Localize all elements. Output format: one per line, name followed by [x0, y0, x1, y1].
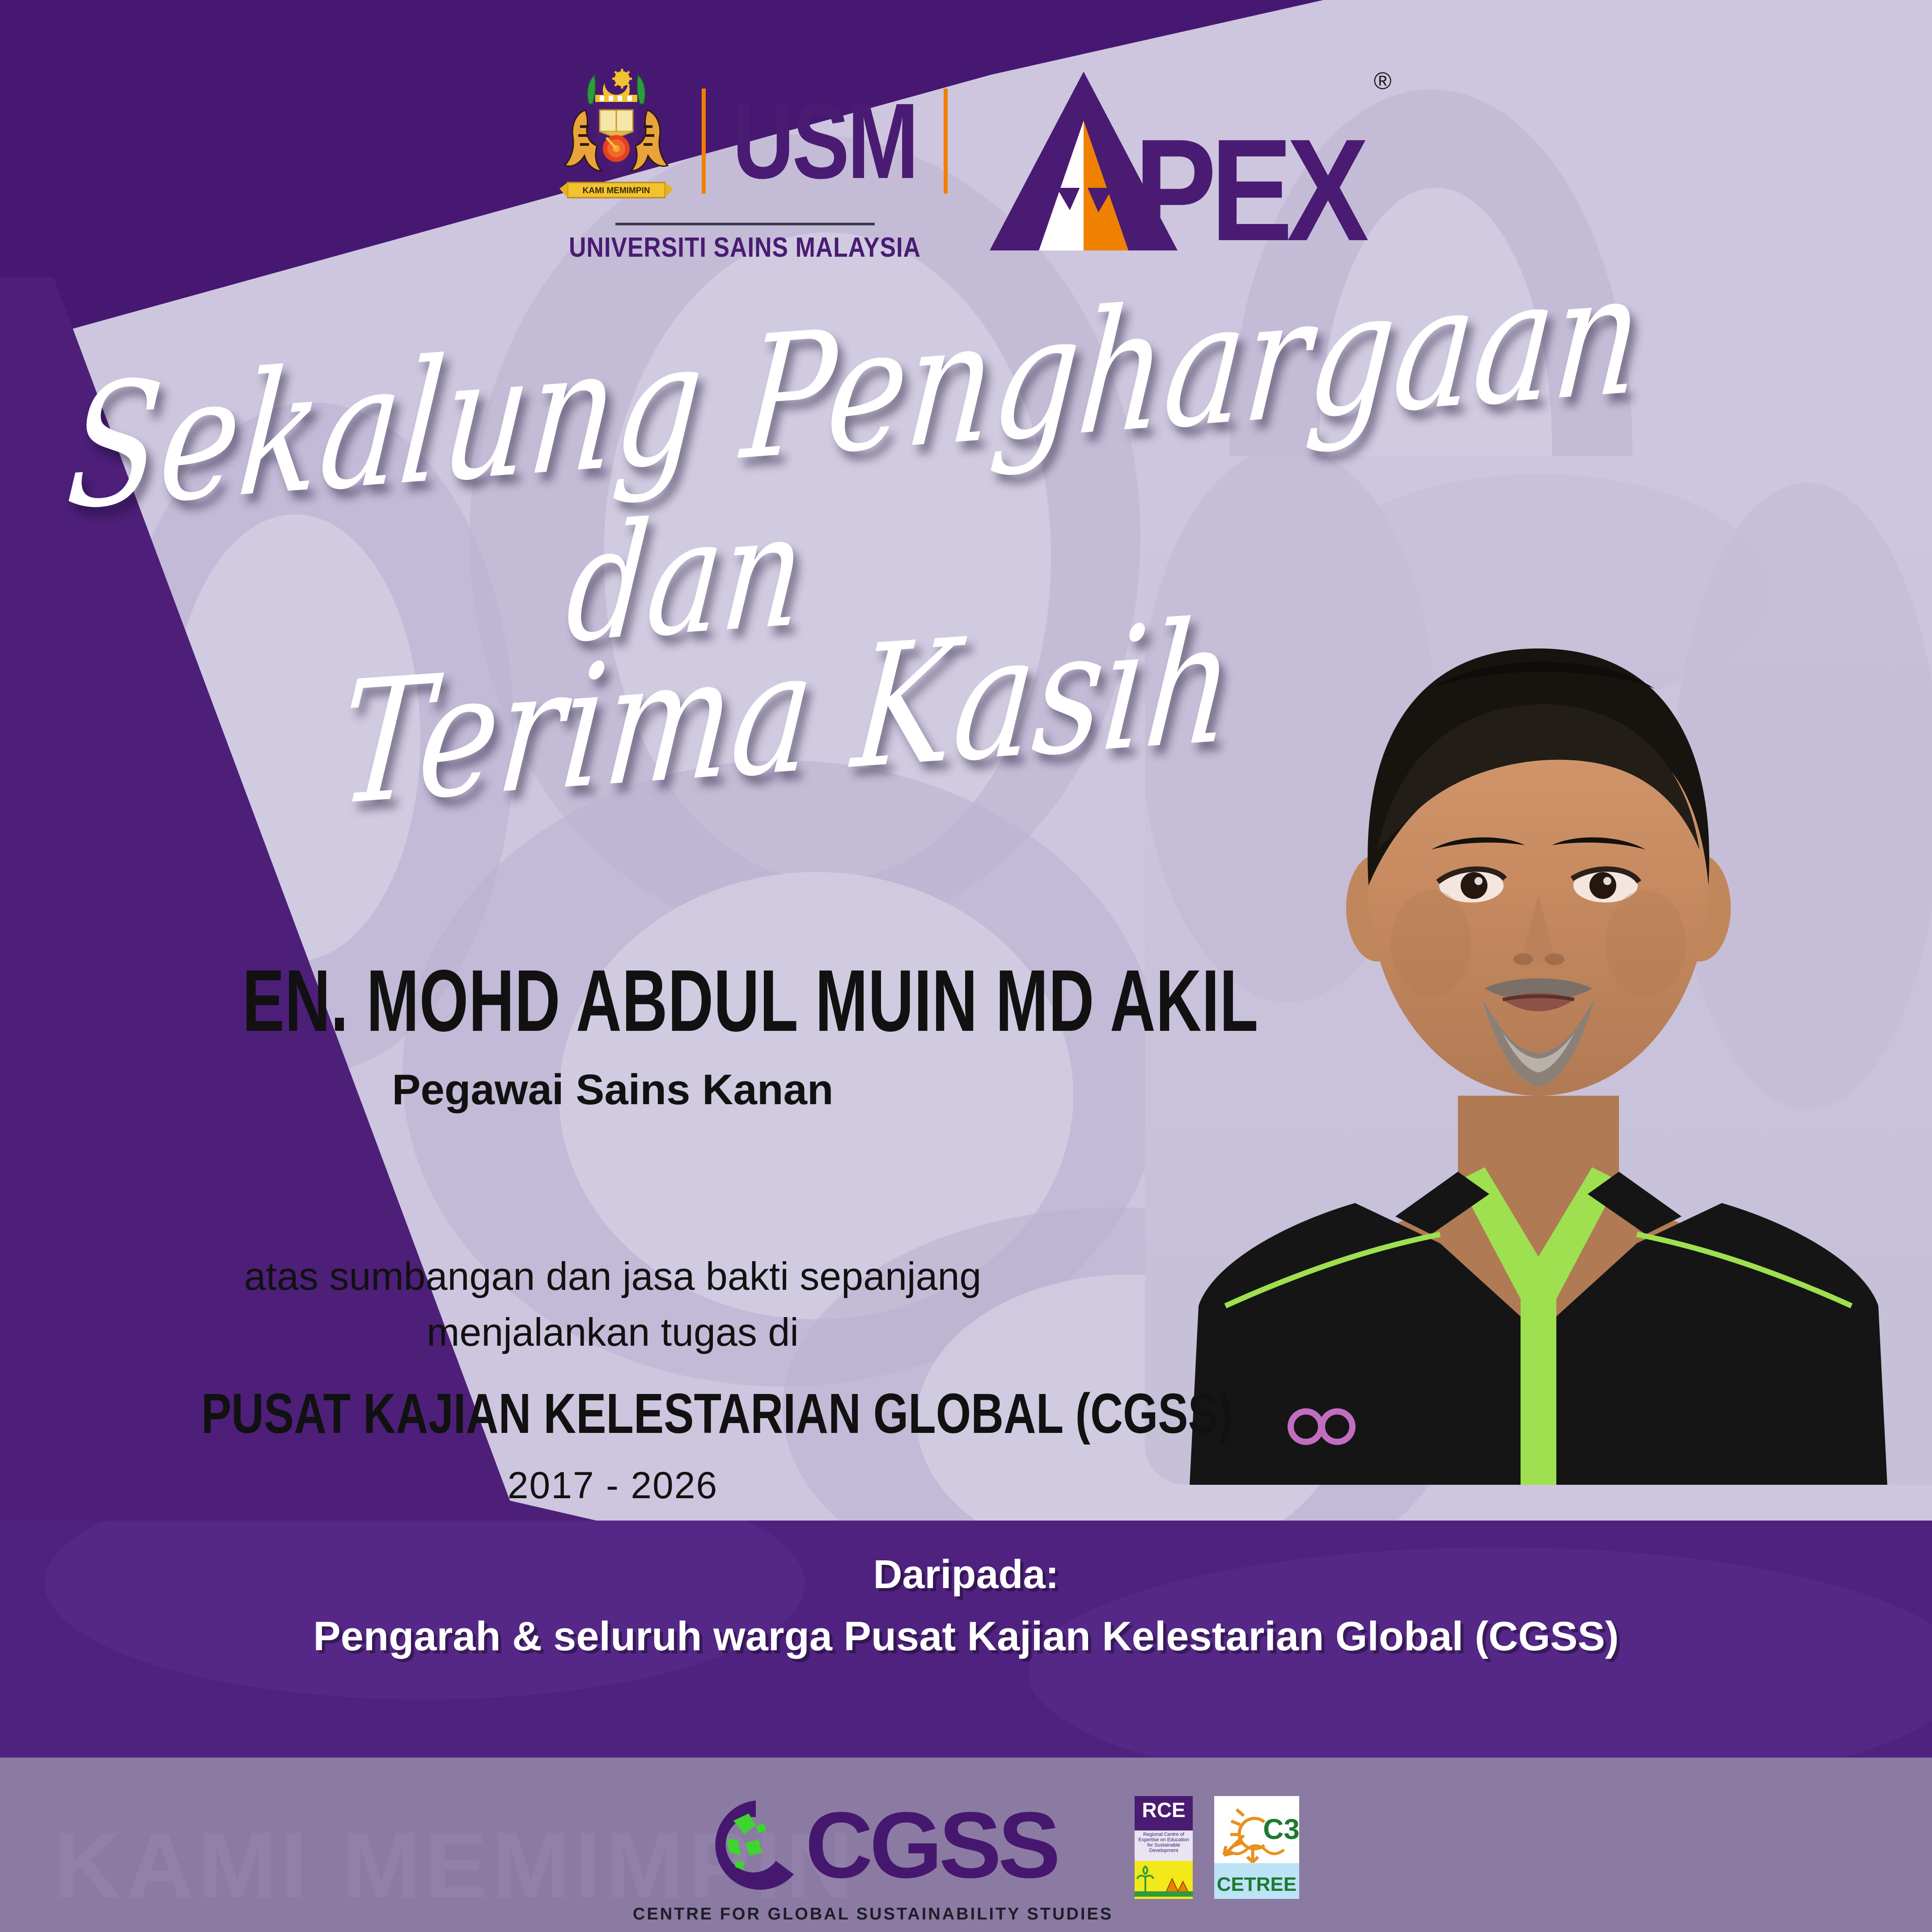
registered-trademark-icon: ® — [1374, 67, 1392, 95]
cetree-logo: C3 CETREE — [1214, 1796, 1299, 1899]
rce-caption: Regional Centre of Expertise on Educatio… — [1135, 1830, 1193, 1861]
apex-wordmark: PEX — [1135, 127, 1363, 253]
honoree-name: EN. MOHD ABDUL MUIN MD AKIL — [242, 957, 983, 1045]
rce-landscape-icon — [1135, 1861, 1193, 1899]
honoree-portrait — [1145, 456, 1932, 1485]
cetree-badge: C3 — [1263, 1813, 1299, 1845]
signoff-text: Daripada: Pengarah & seluruh warga Pusat… — [0, 1552, 1932, 1660]
cetree-sun-icon: C3 CETREE — [1214, 1796, 1299, 1899]
description-line-1: atas sumbangan dan jasa bakti sepanjang — [98, 1249, 1127, 1305]
usm-acronym-text: USM — [733, 96, 917, 186]
usm-motto-text: KAMI MEMIMPIN — [583, 186, 650, 195]
rce-acronym: RCE — [1135, 1796, 1193, 1830]
usm-coat-of-arms-icon: KAMI MEMIMPIN — [542, 67, 690, 215]
cgss-acronym: CGSS — [805, 1803, 1057, 1888]
usm-logo: KAMI MEMIMPIN USM UNIVERSITI SAINS MALAY… — [540, 67, 949, 263]
signoff-from-label: Daripada: — [0, 1552, 1932, 1598]
cgss-logo: CGSS CENTRE FOR GLOBAL SUSTAINABILITY ST… — [633, 1789, 1113, 1924]
apex-logo: PEX ® — [985, 67, 1391, 246]
honoree-role: Pegawai Sains Kanan — [98, 1065, 1127, 1114]
usm-acronym: USM — [702, 89, 947, 194]
footer-logos: CGSS CENTRE FOR GLOBAL SUSTAINABILITY ST… — [0, 1789, 1932, 1924]
honoree-details: EN. MOHD ABDUL MUIN MD AKIL Pegawai Sain… — [98, 957, 1127, 1507]
cetree-name: CETREE — [1217, 1873, 1296, 1895]
cgss-tagline: CENTRE FOR GLOBAL SUSTAINABILITY STUDIES — [633, 1905, 1113, 1924]
appreciation-poster: KAMI MEMIMPIN USM UNIVERSITI SAINS MALAY… — [0, 0, 1932, 1932]
cgss-globe-icon — [689, 1789, 823, 1901]
usm-fullname: UNIVERSITI SAINS MALAYSIA — [569, 232, 921, 263]
description-line-2: menjalankan tugas di — [98, 1305, 1127, 1360]
organisation-name: PUSAT KAJIAN KELESTARIAN GLOBAL (CGSS) — [201, 1381, 1024, 1446]
rce-logo: RCE Regional Centre of Expertise on Educ… — [1135, 1796, 1193, 1899]
portrait-photo — [1145, 456, 1932, 1485]
header-logos: KAMI MEMIMPIN USM UNIVERSITI SAINS MALAY… — [0, 67, 1932, 263]
usm-divider — [615, 223, 875, 225]
signoff-from-value: Pengarah & seluruh warga Pusat Kajian Ke… — [0, 1613, 1932, 1660]
service-years: 2017 - 2026 — [98, 1464, 1127, 1507]
